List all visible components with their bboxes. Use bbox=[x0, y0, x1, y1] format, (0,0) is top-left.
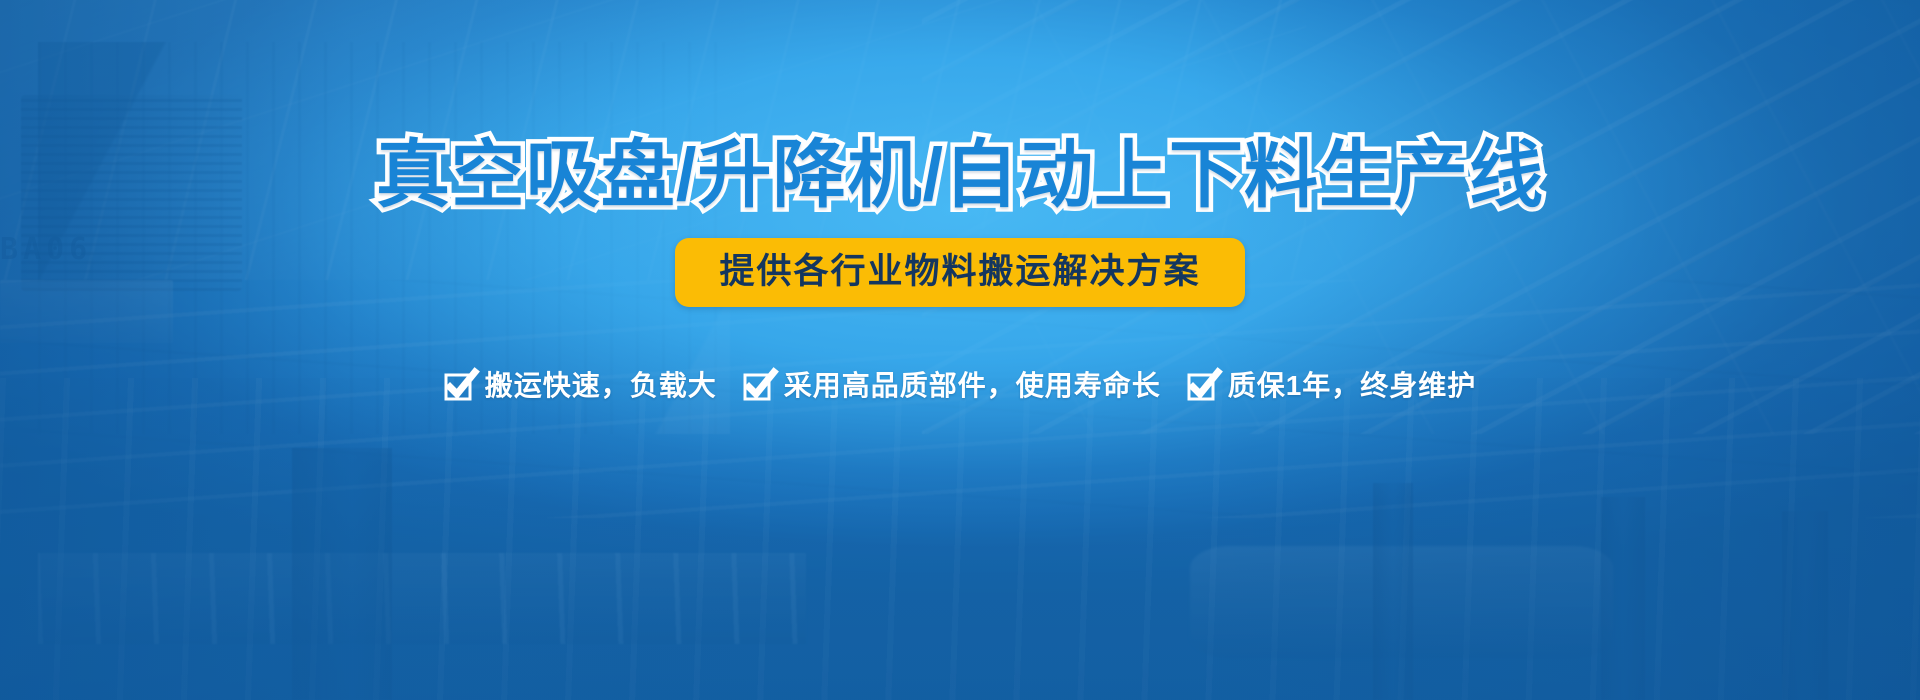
check-square-icon bbox=[444, 371, 476, 401]
check-square-icon bbox=[743, 371, 775, 401]
check-square-icon bbox=[1187, 371, 1219, 401]
feature-item: 搬运快速，负载大 bbox=[444, 371, 717, 401]
feature-label: 质保1年，终身维护 bbox=[1228, 372, 1477, 400]
banner-subtitle-pill: 提供各行业物料搬运解决方案 bbox=[675, 238, 1244, 307]
feature-label: 搬运快速，负载大 bbox=[485, 372, 717, 400]
feature-list: 搬运快速，负载大 采用高品质部件，使用寿命长 bbox=[444, 371, 1477, 401]
feature-item: 质保1年，终身维护 bbox=[1187, 371, 1477, 401]
banner-headline: 真空吸盘/升降机/自动上下料生产线 bbox=[376, 138, 1544, 212]
feature-item: 采用高品质部件，使用寿命长 bbox=[743, 371, 1161, 401]
hero-banner: BA06 真空吸盘/升降机/自动上下料生产线 提供各行业物料搬运解决方案 搬运快… bbox=[0, 0, 1920, 700]
banner-content: 真空吸盘/升降机/自动上下料生产线 提供各行业物料搬运解决方案 搬运快速，负载大 bbox=[0, 0, 1920, 700]
feature-label: 采用高品质部件，使用寿命长 bbox=[784, 372, 1161, 400]
